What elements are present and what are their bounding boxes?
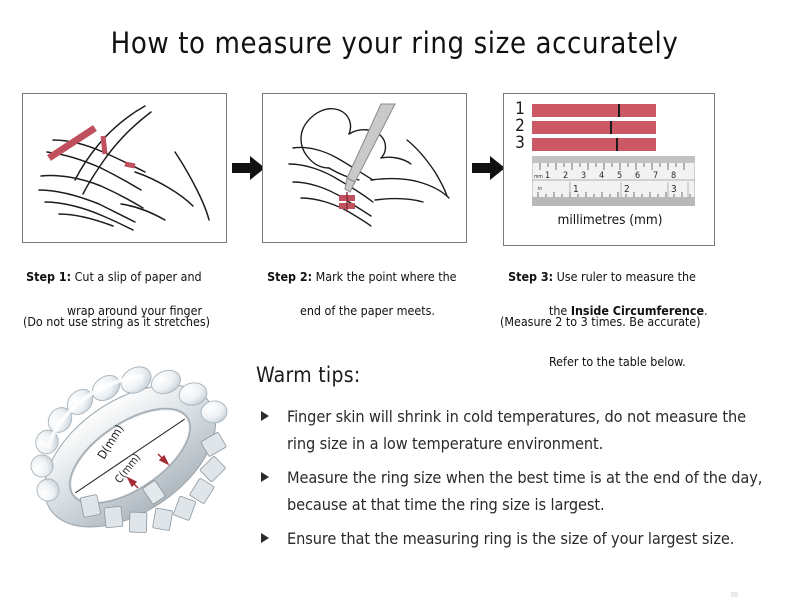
- strip-3-tick: [616, 138, 618, 151]
- svg-text:3: 3: [671, 184, 677, 195]
- step-3-lead: Step 3:: [508, 269, 553, 284]
- ruler-illustration: 123 456 78 mm 123 in: [532, 156, 695, 206]
- svg-text:5: 5: [617, 171, 622, 181]
- bullet-triangle-icon: [261, 472, 269, 482]
- steps-row: 1 2 3: [0, 93, 789, 253]
- hand-with-paper-strip-icon: [23, 94, 227, 243]
- strip-2-tick: [610, 121, 612, 134]
- arrow-step1-to-step2-icon: [232, 155, 266, 181]
- step-3-panel: 1 2 3: [503, 93, 715, 246]
- warm-tips-section: Warm tips: Finger skin will shrink in co…: [256, 363, 766, 559]
- hand-marking-strip-icon: [263, 94, 467, 243]
- step-3-line2-post: .: [704, 303, 708, 318]
- svg-text:3: 3: [581, 171, 586, 181]
- ring-figure: D(mm) C(mm): [18, 352, 258, 567]
- step-3-line1: Use ruler to measure the: [553, 269, 696, 284]
- eternity-ring-illustration-icon: D(mm) C(mm): [18, 352, 258, 567]
- warm-tip-text: Measure the ring size when the best time…: [287, 468, 762, 514]
- svg-text:1: 1: [545, 171, 550, 181]
- corner-artifact: [731, 592, 738, 597]
- svg-text:7: 7: [653, 171, 658, 181]
- millimetres-caption: millimetres (mm): [504, 212, 715, 228]
- step-2-caption: Step 2: Mark the point where the end of …: [260, 251, 457, 336]
- strip-3-label: 3: [512, 134, 528, 153]
- warm-tip-text: Finger skin will shrink in cold temperat…: [287, 407, 746, 453]
- strip-1-tick: [618, 104, 620, 117]
- svg-text:2: 2: [624, 184, 630, 195]
- warm-tip-item: Measure the ring size when the best time…: [256, 464, 766, 518]
- svg-text:8: 8: [671, 171, 676, 181]
- warm-tip-item: Finger skin will shrink in cold temperat…: [256, 403, 766, 457]
- step-1-note: (Do not use string as it stretches): [23, 314, 210, 329]
- svg-text:2: 2: [563, 171, 568, 181]
- warm-tip-item: Ensure that the measuring ring is the si…: [256, 525, 766, 552]
- step-3-note: (Measure 2 to 3 times. Be accurate): [500, 314, 701, 329]
- svg-text:mm: mm: [534, 174, 543, 180]
- step-2-line1: Mark the point where the: [312, 269, 456, 284]
- svg-text:4: 4: [599, 171, 604, 181]
- strip-3-bar: [532, 138, 656, 151]
- warm-tips-heading: Warm tips:: [256, 363, 766, 387]
- svg-text:6: 6: [635, 171, 640, 181]
- svg-text:in: in: [538, 186, 542, 192]
- step-2-panel: [262, 93, 467, 243]
- strip-2-bar: [532, 121, 656, 134]
- step-1-line1: Cut a slip of paper and: [71, 269, 202, 284]
- step-1-lead: Step 1:: [26, 269, 71, 284]
- arrow-step2-to-step3-icon: [472, 155, 506, 181]
- step-2-line2: end of the paper meets.: [260, 302, 457, 319]
- step-2-lead: Step 2:: [267, 269, 312, 284]
- bullet-triangle-icon: [261, 533, 269, 543]
- step-1-panel: [22, 93, 227, 243]
- bullet-triangle-icon: [261, 411, 269, 421]
- strip-1-bar: [532, 104, 656, 117]
- svg-text:1: 1: [573, 184, 579, 195]
- warm-tip-text: Ensure that the measuring ring is the si…: [287, 529, 734, 548]
- page-title: How to measure your ring size accurately: [0, 26, 789, 60]
